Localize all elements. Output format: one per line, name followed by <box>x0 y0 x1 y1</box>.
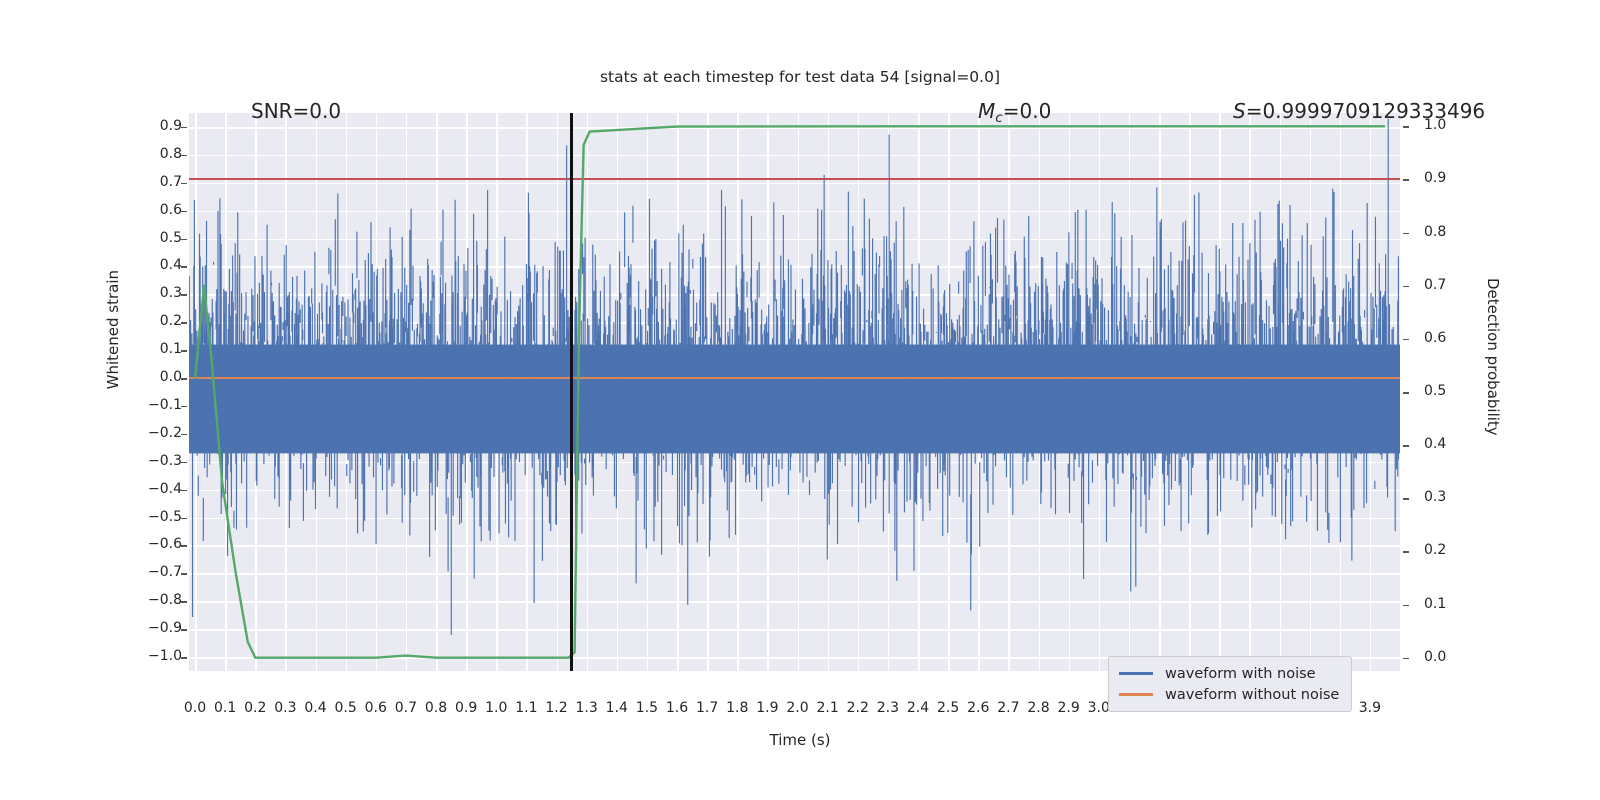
y-axis-left-label: Whitened strain <box>104 270 122 389</box>
chart-title: stats at each timestep for test data 54 … <box>0 68 1600 86</box>
y-axis-right-tick-mark <box>1403 286 1409 288</box>
x-axis-tick-label: 0.7 <box>395 700 417 716</box>
y-axis-right-tick-label: 0.7 <box>1424 277 1446 293</box>
y-axis-right-label: Detection probability <box>1484 278 1502 436</box>
y-axis-left-tick-label: 0.2 <box>160 313 182 329</box>
annotation-chirp-mass-subscript: c <box>995 110 1002 126</box>
y-axis-right-tick-mark <box>1403 605 1409 607</box>
y-axis-left-tick-mark <box>181 155 187 157</box>
y-axis-right-tick-mark <box>1403 445 1409 447</box>
x-axis-tick-label: 3.9 <box>1359 700 1381 716</box>
y-axis-right-tick-mark <box>1403 233 1409 235</box>
y-axis-right-tick-mark <box>1403 339 1409 341</box>
y-axis-left-tick-mark <box>181 239 187 241</box>
y-axis-right-tick-mark <box>1403 179 1409 181</box>
legend-item-label: waveform without noise <box>1165 687 1339 703</box>
y-axis-right-tick-label: 0.6 <box>1424 330 1446 346</box>
x-axis-tick-label: 1.1 <box>515 700 537 716</box>
x-axis-tick-label: 2.6 <box>967 700 989 716</box>
y-axis-left-tick-mark <box>181 211 187 213</box>
y-axis-left-tick-mark <box>181 378 187 380</box>
x-axis-tick-label: 2.2 <box>847 700 869 716</box>
y-axis-left-tick-label: 0.7 <box>160 174 182 190</box>
annotation-chirp-mass-symbol: M <box>978 99 995 123</box>
x-axis-tick-label: 1.0 <box>485 700 507 716</box>
y-axis-left-tick-mark <box>181 406 187 408</box>
x-axis-label: Time (s) <box>0 731 1600 749</box>
y-axis-right-tick-label: 0.5 <box>1424 383 1446 399</box>
y-axis-right-tick-mark <box>1403 392 1409 394</box>
y-axis-left-tick-mark <box>181 573 187 575</box>
y-axis-left-tick-label: −0.5 <box>148 509 182 525</box>
x-axis-tick-label: 3.0 <box>1088 700 1110 716</box>
y-axis-left-tick-mark <box>181 629 187 631</box>
y-axis-right-tick-label: 0.3 <box>1424 489 1446 505</box>
y-axis-left-tick-label: −0.7 <box>148 564 182 580</box>
x-axis-tick-label: 1.8 <box>726 700 748 716</box>
y-axis-left-tick-mark <box>181 657 187 659</box>
y-axis-left-tick-mark <box>181 127 187 129</box>
annotation-score: S=0.9999709129333496 <box>1233 99 1485 123</box>
x-axis-tick-label: 2.7 <box>997 700 1019 716</box>
y-axis-left-tick-label: 0.5 <box>160 230 182 246</box>
x-axis-tick-label: 2.9 <box>1057 700 1079 716</box>
y-axis-left-tick-label: 0.1 <box>160 341 182 357</box>
legend-item-label: waveform with noise <box>1165 666 1316 682</box>
y-axis-left-tick-mark <box>181 545 187 547</box>
legend-item[interactable]: waveform with noise <box>1119 663 1339 684</box>
y-axis-left-tick-mark <box>181 601 187 603</box>
x-axis-tick-label: 1.5 <box>636 700 658 716</box>
y-axis-left-tick-label: 0.8 <box>160 146 182 162</box>
y-axis-left-tick-label: −1.0 <box>148 648 182 664</box>
x-axis-tick-label: 0.6 <box>365 700 387 716</box>
y-axis-left-tick-mark <box>181 294 187 296</box>
y-axis-left-tick-mark <box>181 434 187 436</box>
y-axis-left-tick-label: −0.9 <box>148 620 182 636</box>
y-axis-right-tick-label: 0.9 <box>1424 170 1446 186</box>
y-axis-right-tick-label: 0.1 <box>1424 596 1446 612</box>
y-axis-left-tick-mark <box>181 183 187 185</box>
x-axis-tick-label: 2.5 <box>937 700 959 716</box>
y-axis-right-tick-mark <box>1403 551 1409 553</box>
legend-swatch-icon <box>1119 672 1153 674</box>
annotation-chirp-mass: Mc=0.0 <box>978 99 1051 126</box>
y-axis-right-tick-mark <box>1403 658 1409 660</box>
y-axis-right-tick-mark <box>1403 498 1409 500</box>
y-axis-left-tick-label: −0.4 <box>148 481 182 497</box>
y-axis-left-tick-mark <box>181 518 187 520</box>
x-axis-tick-label: 0.9 <box>455 700 477 716</box>
y-axis-left-tick-label: 0.9 <box>160 118 182 134</box>
figure-canvas: stats at each timestep for test data 54 … <box>0 0 1600 800</box>
y-axis-left-tick-label: 0.3 <box>160 285 182 301</box>
y-axis-right-tick-label: 0.0 <box>1424 649 1446 665</box>
x-axis-tick-label: 2.0 <box>786 700 808 716</box>
y-axis-left-tick-mark <box>181 322 187 324</box>
x-axis-tick-label: 0.5 <box>335 700 357 716</box>
legend: waveform with noisewaveform without nois… <box>1108 656 1352 712</box>
y-axis-left-tick-mark <box>181 490 187 492</box>
annotation-score-value: =0.9999709129333496 <box>1246 99 1485 123</box>
y-axis-left-tick-label: 0.6 <box>160 202 182 218</box>
y-axis-left-tick-mark <box>181 350 187 352</box>
x-axis-tick-label: 0.0 <box>184 700 206 716</box>
x-axis-tick-label: 1.6 <box>666 700 688 716</box>
y-axis-left-tick-label: 0.4 <box>160 257 182 273</box>
x-axis-tick-label: 1.9 <box>756 700 778 716</box>
y-axis-right-tick-label: 0.2 <box>1424 542 1446 558</box>
x-axis-tick-label: 2.3 <box>877 700 899 716</box>
y-axis-left-tick-label: −0.3 <box>148 453 182 469</box>
x-axis-tick-label: 2.8 <box>1027 700 1049 716</box>
y-axis-left-tick-label: 0.0 <box>160 369 182 385</box>
y-axis-right-tick-label: 0.4 <box>1424 436 1446 452</box>
x-axis-tick-label: 0.3 <box>274 700 296 716</box>
x-axis-tick-label: 1.4 <box>606 700 628 716</box>
y-axis-left-tick-label: −0.1 <box>148 397 182 413</box>
annotation-snr: SNR=0.0 <box>251 99 341 123</box>
x-axis-tick-label: 1.2 <box>545 700 567 716</box>
x-axis-tick-label: 0.2 <box>244 700 266 716</box>
x-axis-tick-label: 1.3 <box>576 700 598 716</box>
y-axis-left-tick-label: −0.8 <box>148 592 182 608</box>
y-axis-right-tick-mark <box>1403 126 1409 128</box>
x-axis-tick-label: 0.8 <box>425 700 447 716</box>
x-axis-tick-label: 2.1 <box>816 700 838 716</box>
legend-swatch-icon <box>1119 693 1153 695</box>
y-axis-left-tick-label: −0.2 <box>148 425 182 441</box>
y-axis-right-tick-label: 0.8 <box>1424 224 1446 240</box>
y-axis-left-tick-label: −0.6 <box>148 536 182 552</box>
merger-time-marker <box>570 113 573 671</box>
annotation-score-symbol: S <box>1233 99 1246 123</box>
x-axis-tick-label: 0.4 <box>304 700 326 716</box>
x-axis-tick-label: 2.4 <box>907 700 929 716</box>
detection-probability-series <box>189 113 1400 671</box>
x-axis-tick-label: 1.7 <box>696 700 718 716</box>
y-axis-left-tick-mark <box>181 266 187 268</box>
legend-item[interactable]: waveform without noise <box>1119 684 1339 705</box>
x-axis-tick-label: 0.1 <box>214 700 236 716</box>
annotation-chirp-mass-value: =0.0 <box>1003 99 1052 123</box>
y-axis-left-tick-mark <box>181 462 187 464</box>
plot-area <box>189 113 1400 671</box>
detection-probability-trace <box>195 126 1385 657</box>
